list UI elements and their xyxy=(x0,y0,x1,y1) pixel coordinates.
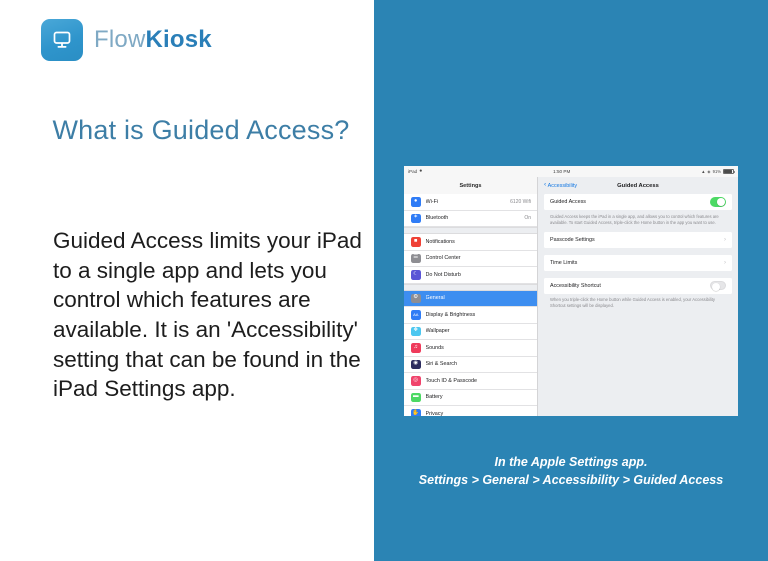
card-spacer xyxy=(544,271,732,278)
wifi-icon: ● xyxy=(411,197,421,207)
sidebar-item-label: Wi-Fi xyxy=(426,199,506,205)
sidebar-item-label: Privacy xyxy=(426,411,532,416)
caption-line-1: In the Apple Settings app. xyxy=(374,453,768,471)
sidebar-item-label: Touch ID & Passcode xyxy=(426,378,532,384)
settings-group-separator xyxy=(404,284,537,291)
sounds-icon: ♫ xyxy=(411,343,421,353)
accessibility-shortcut-row[interactable]: Accessibility Shortcut xyxy=(544,278,732,294)
bluetooth-icon: ◈ xyxy=(707,169,710,174)
sidebar-item-label: Wallpaper xyxy=(426,328,532,334)
bluetooth-icon: ✶ xyxy=(411,214,421,224)
control-center-icon: ☰ xyxy=(411,254,421,264)
status-battery-percent: 91% xyxy=(713,169,721,174)
sidebar-item-do-not-disturb[interactable]: ☾Do Not Disturb xyxy=(404,267,537,284)
sidebar-item-display-brightness[interactable]: AADisplay & Brightness xyxy=(404,307,537,324)
brand-word-kiosk: Kiosk xyxy=(145,26,211,53)
guided-access-label: Guided Access xyxy=(550,199,710,205)
brand-word-flow: Flow xyxy=(94,26,145,53)
sidebar-item-value: On xyxy=(524,215,531,221)
settings-master-pane: Settings ●Wi-Fi6120 Wifi✶BluetoothOn■Not… xyxy=(404,177,538,416)
sidebar-item-siri-search[interactable]: ◉Siri & Search xyxy=(404,357,537,374)
accessibility-shortcut-card: Accessibility Shortcut xyxy=(544,278,732,294)
settings-group-separator xyxy=(404,227,537,234)
sidebar-item-notifications[interactable]: ■Notifications xyxy=(404,234,537,251)
settings-pane-title: Settings xyxy=(404,177,537,194)
accessibility-shortcut-note: When you triple-click the Home button wh… xyxy=(544,294,732,316)
battery-icon xyxy=(723,169,734,174)
time-limits-row[interactable]: Time Limits › xyxy=(544,255,732,271)
body-paragraph: Guided Access limits your iPad to a sing… xyxy=(53,226,363,404)
chevron-right-icon: › xyxy=(724,237,726,243)
sidebar-item-wallpaper[interactable]: ❖Wallpaper xyxy=(404,324,537,341)
chevron-right-icon: › xyxy=(724,260,726,266)
sidebar-item-privacy[interactable]: ✋Privacy xyxy=(404,406,537,416)
sidebar-item-control-center[interactable]: ☰Control Center xyxy=(404,251,537,268)
sidebar-item-label: Notifications xyxy=(426,239,532,245)
notifications-icon: ■ xyxy=(411,237,421,247)
sidebar-item-sounds[interactable]: ♫Sounds xyxy=(404,340,537,357)
time-limits-card: Time Limits › xyxy=(544,255,732,271)
slide: FlowKiosk What is Guided Access? Guided … xyxy=(0,0,768,561)
sidebar-item-label: Battery xyxy=(426,394,532,400)
brand-wordmark: FlowKiosk xyxy=(94,26,212,54)
sidebar-item-label: Display & Brightness xyxy=(426,312,532,318)
passcode-settings-card: Passcode Settings › xyxy=(544,232,732,248)
passcode-settings-row[interactable]: Passcode Settings › xyxy=(544,232,732,248)
wallpaper-icon: ❖ xyxy=(411,327,421,337)
fingerprint-icon: ◎ xyxy=(411,376,421,386)
passcode-settings-label: Passcode Settings xyxy=(550,237,724,243)
brand-logo: FlowKiosk xyxy=(41,19,212,61)
detail-title: Guided Access xyxy=(544,183,732,189)
sidebar-item-label: Control Center xyxy=(426,255,532,261)
sidebar-item-label: General xyxy=(426,295,532,301)
status-left: iPad ● xyxy=(408,169,422,174)
caption-line-2: Settings > General > Accessibility > Gui… xyxy=(374,471,768,489)
sidebar-item-label: Do Not Disturb xyxy=(426,272,532,278)
guided-access-toggle[interactable] xyxy=(710,197,726,207)
sidebar-item-bluetooth[interactable]: ✶BluetoothOn xyxy=(404,211,537,228)
detail-nav-bar: ‹ Accessibility Guided Access xyxy=(544,177,732,194)
status-clock: 1:50 PM xyxy=(422,169,701,174)
sidebar-item-value: 6120 Wifi xyxy=(510,199,531,205)
sidebar-item-label: Bluetooth xyxy=(426,215,520,221)
settings-list[interactable]: ●Wi-Fi6120 Wifi✶BluetoothOn■Notification… xyxy=(404,194,537,416)
ipad-split-view: Settings ●Wi-Fi6120 Wifi✶BluetoothOn■Not… xyxy=(404,177,738,416)
battery-icon: ▬ xyxy=(411,393,421,403)
panel-caption: In the Apple Settings app. Settings > Ge… xyxy=(374,453,768,489)
sidebar-item-label: Sounds xyxy=(426,345,532,351)
status-device-label: iPad xyxy=(408,169,417,174)
sidebar-item-touch-id-passcode[interactable]: ◎Touch ID & Passcode xyxy=(404,373,537,390)
time-limits-label: Time Limits xyxy=(550,260,724,266)
guided-access-card: Guided Access xyxy=(544,194,732,210)
page-title: What is Guided Access? xyxy=(36,113,366,149)
sidebar-item-general[interactable]: ⚙General xyxy=(404,291,537,308)
accessibility-shortcut-label: Accessibility Shortcut xyxy=(550,283,710,289)
accessibility-shortcut-toggle[interactable] xyxy=(710,281,726,291)
left-content-column: FlowKiosk What is Guided Access? Guided … xyxy=(0,0,374,561)
guided-access-detail-pane: ‹ Accessibility Guided Access Guided Acc… xyxy=(538,177,738,416)
guided-access-row[interactable]: Guided Access xyxy=(544,194,732,210)
sidebar-item-label: Siri & Search xyxy=(426,361,532,367)
moon-icon: ☾ xyxy=(411,270,421,280)
hand-icon: ✋ xyxy=(411,409,421,416)
ipad-status-bar: iPad ● 1:50 PM ▲ ◈ 91% xyxy=(404,166,738,177)
display-icon: AA xyxy=(411,310,421,320)
right-blue-panel: iPad ● 1:50 PM ▲ ◈ 91% Settings ●Wi-Fi61… xyxy=(374,0,768,561)
gear-icon: ⚙ xyxy=(411,294,421,304)
siri-icon: ◉ xyxy=(411,360,421,370)
location-arrow-icon: ▲ xyxy=(701,169,705,174)
card-spacer xyxy=(544,248,732,255)
kiosk-monitor-icon xyxy=(41,19,83,61)
status-right: ▲ ◈ 91% xyxy=(701,169,734,174)
sidebar-item-wi-fi[interactable]: ●Wi-Fi6120 Wifi xyxy=(404,194,537,211)
ipad-screenshot: iPad ● 1:50 PM ▲ ◈ 91% Settings ●Wi-Fi61… xyxy=(404,166,738,416)
guided-access-note: Guided Access keeps the iPad in a single… xyxy=(544,210,732,232)
sidebar-item-battery[interactable]: ▬Battery xyxy=(404,390,537,407)
